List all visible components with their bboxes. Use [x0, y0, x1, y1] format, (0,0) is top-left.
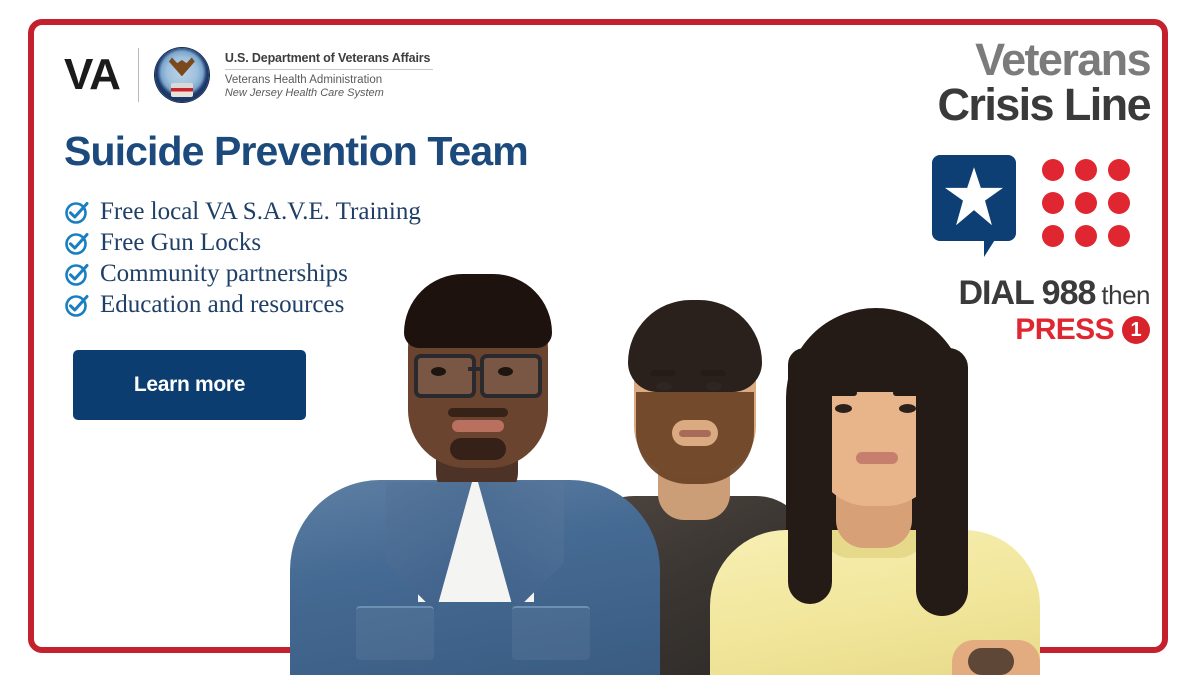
list-item-label: Free Gun Locks: [100, 230, 261, 255]
press-line: PRESS 1: [860, 315, 1150, 345]
dial-number-text: DIAL 988: [959, 274, 1096, 312]
p1-pocket-right: [512, 606, 590, 660]
p1-eye-right: [498, 367, 513, 376]
logo-divider: [138, 48, 139, 102]
speech-bubble-icon: [932, 155, 1016, 241]
press-text: PRESS: [1015, 315, 1114, 345]
p1-eye-left: [431, 367, 446, 376]
p1-chin-beard: [450, 438, 506, 460]
keypad-dot: [1075, 159, 1097, 181]
feature-list: Free local VA S.A.V.E. Training Free Gun…: [64, 196, 421, 320]
page-title: Suicide Prevention Team: [64, 128, 528, 175]
va-text-rule: [225, 69, 433, 70]
va-administration-line: Veterans Health Administration: [225, 74, 433, 86]
check-circle-icon: [64, 230, 90, 256]
keypad-dot: [1108, 225, 1130, 247]
list-item-label: Education and resources: [100, 292, 344, 317]
star-icon: [945, 167, 1003, 225]
p3-brow-left: [829, 390, 857, 396]
keypad-dots-icon: [1042, 159, 1130, 247]
vcl-line-veterans: Veterans: [898, 38, 1150, 82]
p1-eyeglass-lens-left: [414, 354, 476, 398]
veterans-crisis-line-wordmark: Veterans Crisis Line: [898, 38, 1150, 127]
list-item: Free Gun Locks: [64, 227, 421, 258]
dial-line: DIAL 988then: [860, 276, 1150, 310]
list-item: Education and resources: [64, 289, 421, 320]
check-circle-icon: [64, 292, 90, 318]
list-item-label: Community partnerships: [100, 261, 348, 286]
keypad-dot: [1042, 225, 1064, 247]
p3-lips: [856, 452, 898, 464]
keypad-dot: [1108, 159, 1130, 181]
va-seal-icon: [155, 48, 209, 102]
va-wordmark: VA: [64, 53, 120, 97]
list-item-label: Free local VA S.A.V.E. Training: [100, 199, 421, 224]
va-system-line: New Jersey Health Care System: [225, 87, 433, 99]
check-circle-icon: [64, 199, 90, 225]
keypad-dot: [1042, 159, 1064, 181]
list-item: Free local VA S.A.V.E. Training: [64, 196, 421, 227]
p3-brow-right: [893, 390, 921, 396]
va-agency-text: U.S. Department of Veterans Affairs Vete…: [225, 51, 433, 99]
list-item: Community partnerships: [64, 258, 421, 289]
keypad-dot: [1042, 192, 1064, 214]
dial-instructions: DIAL 988then PRESS 1: [860, 276, 1150, 345]
keypad-dot: [1108, 192, 1130, 214]
va-department-line: U.S. Department of Veterans Affairs: [225, 51, 433, 65]
p1-mustache: [448, 408, 508, 417]
p3-eye-right: [899, 404, 916, 413]
p3-tattoo: [968, 648, 1014, 675]
p2-lips: [679, 430, 711, 437]
dial-then-text: then: [1101, 280, 1150, 310]
p3-hair-left-strand: [788, 348, 832, 604]
person-denim-jacket: [290, 268, 660, 675]
learn-more-button[interactable]: Learn more: [73, 350, 306, 420]
va-logo-lockup: VA U.S. Department of Veterans Affairs V…: [64, 48, 433, 102]
check-circle-icon: [64, 261, 90, 287]
poster-canvas: VA U.S. Department of Veterans Affairs V…: [0, 0, 1200, 675]
press-one-icon: 1: [1122, 316, 1150, 344]
keypad-dot: [1075, 225, 1097, 247]
vcl-badge: [932, 155, 1130, 247]
p1-eyeglass-lens-right: [480, 354, 542, 398]
p3-hair-right-strand: [916, 348, 968, 616]
keypad-dot: [1075, 192, 1097, 214]
p3-eye-left: [835, 404, 852, 413]
p1-hair: [404, 274, 552, 348]
p1-pocket-left: [356, 606, 434, 660]
p1-eyeglass-bridge: [468, 367, 480, 371]
person-yellow-shirt: [710, 296, 1040, 675]
p1-lips: [452, 420, 504, 432]
vcl-line-crisis-line: Crisis Line: [898, 82, 1150, 127]
